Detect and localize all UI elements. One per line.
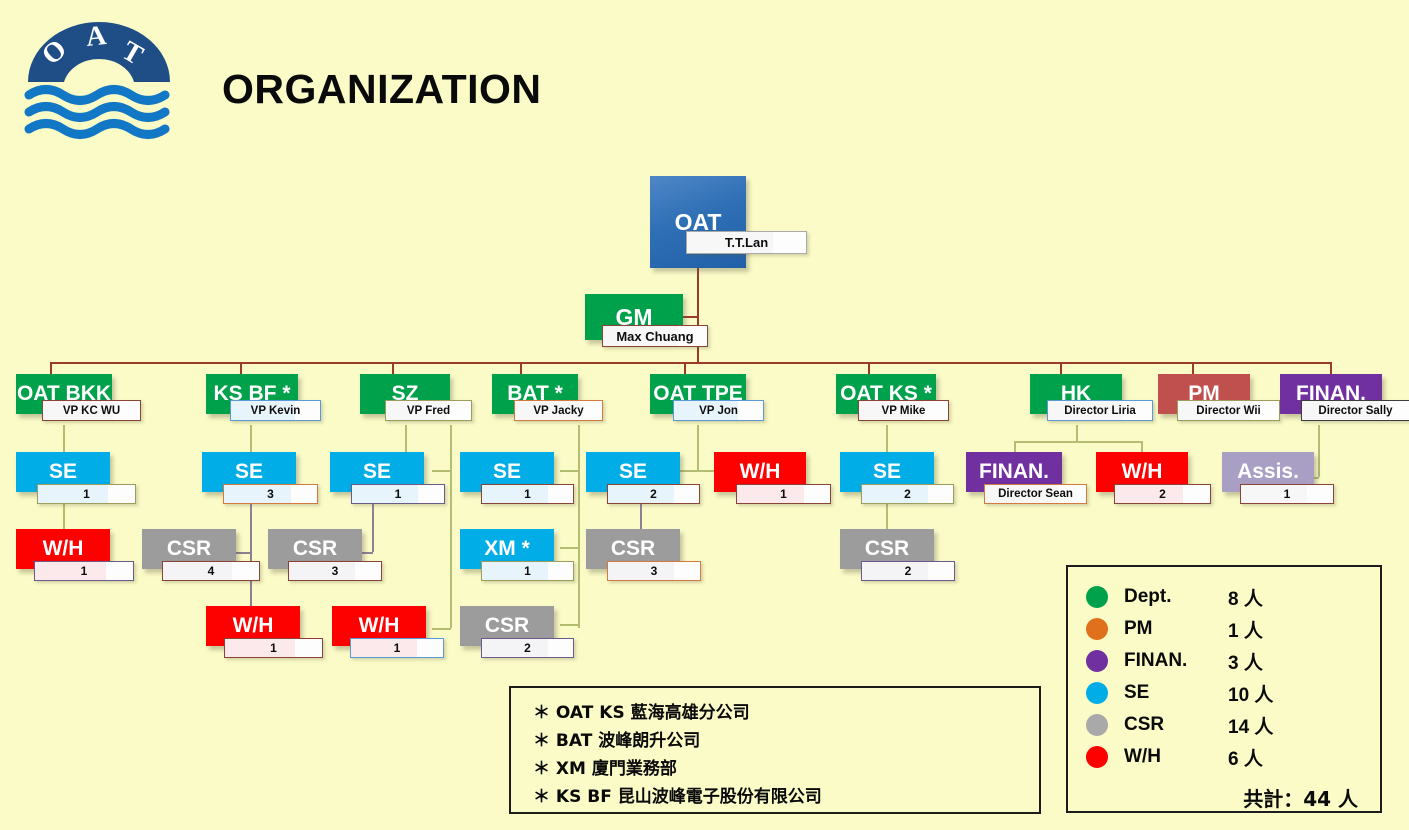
node-person: Director Wii bbox=[1177, 400, 1280, 421]
legend-row: PM 1 人 bbox=[1068, 613, 1380, 645]
legend-dot-pm bbox=[1086, 618, 1108, 640]
node-person: Director Sally bbox=[1301, 400, 1409, 421]
node-count: 1 bbox=[37, 484, 136, 504]
connector-bat-trunk bbox=[578, 425, 580, 628]
connector-ks-csr bbox=[886, 502, 888, 529]
footnote-item: ＊ OAT KS 藍海高雄分公司 bbox=[533, 699, 1039, 727]
connector-bat-csr bbox=[560, 624, 579, 626]
connector-ksbf-se bbox=[250, 425, 252, 452]
legend-value: 14 人 bbox=[1228, 712, 1273, 739]
legend-label: SE bbox=[1124, 682, 1228, 704]
connector-hk-wh bbox=[1141, 441, 1143, 452]
node-count: 4 bbox=[162, 561, 260, 581]
node-count: Director Sean bbox=[984, 484, 1087, 504]
legend-dot-csr bbox=[1086, 714, 1108, 736]
connector-hk-finan bbox=[1014, 441, 1016, 452]
legend-row: CSR 14 人 bbox=[1068, 709, 1380, 741]
connector-sz-trunk bbox=[450, 425, 452, 628]
svg-text:A: A bbox=[84, 20, 108, 53]
legend-dot-finan bbox=[1086, 650, 1108, 672]
legend-dot-wh bbox=[1086, 746, 1108, 768]
node-count: 1 bbox=[34, 561, 134, 581]
connector-tpe-csr bbox=[640, 502, 642, 529]
legend-row: W/H 6 人 bbox=[1068, 741, 1380, 773]
connector-drop-8 bbox=[1192, 362, 1194, 374]
footnote-item: ＊ BAT 波峰朗升公司 bbox=[533, 727, 1039, 755]
connector-sz-se bbox=[405, 425, 407, 452]
node-root[interactable]: OAT T.T.Lan bbox=[650, 176, 746, 268]
connector-main-bus bbox=[50, 362, 1332, 364]
connector-drop-7 bbox=[1060, 362, 1062, 374]
legend-dot-dept bbox=[1086, 586, 1108, 608]
node-count: 3 bbox=[223, 484, 318, 504]
node-person: VP Fred bbox=[385, 400, 472, 421]
oat-logo: O A T bbox=[24, 20, 174, 140]
node-count: 3 bbox=[288, 561, 382, 581]
node-count: 1 bbox=[224, 638, 323, 658]
node-root-label: OAT bbox=[650, 176, 746, 268]
legend-label: Dept. bbox=[1124, 586, 1228, 608]
connector-finan-v bbox=[1318, 425, 1320, 477]
legend-row: SE 10 人 bbox=[1068, 677, 1380, 709]
connector-drop-6 bbox=[868, 362, 870, 374]
node-root-person: T.T.Lan bbox=[686, 231, 807, 254]
legend-row: Dept. 8 人 bbox=[1068, 581, 1380, 613]
node-count: 2 bbox=[861, 561, 955, 581]
connector-hk-trunk bbox=[1076, 425, 1078, 441]
connector-drop-1 bbox=[50, 362, 52, 374]
legend-label: W/H bbox=[1124, 746, 1228, 768]
connector-drop-5 bbox=[684, 362, 686, 374]
connector-drop-4 bbox=[520, 362, 522, 374]
node-count: 2 bbox=[1114, 484, 1211, 504]
node-count: 1 bbox=[481, 484, 574, 504]
node-person: VP KC WU bbox=[42, 400, 141, 421]
node-count: 1 bbox=[350, 638, 444, 658]
legend-panel: Dept. 8 人 PM 1 人 FINAN. 3 人 SE 10 人 CSR … bbox=[1066, 565, 1382, 813]
legend-row: FINAN. 3 人 bbox=[1068, 645, 1380, 677]
legend-label: FINAN. bbox=[1124, 650, 1228, 672]
connector-bkk-se bbox=[63, 425, 65, 452]
node-person: VP Jon bbox=[673, 400, 764, 421]
legend-dot-se bbox=[1086, 682, 1108, 704]
footnote-item: ＊ XM 廈門業務部 bbox=[533, 755, 1039, 783]
connector-drop-3 bbox=[392, 362, 394, 374]
legend-value: 8 人 bbox=[1228, 584, 1263, 611]
legend-value: 1 人 bbox=[1228, 616, 1263, 643]
connector-sz-se-h bbox=[432, 470, 451, 472]
legend-label: CSR bbox=[1124, 714, 1228, 736]
node-count: 3 bbox=[607, 561, 701, 581]
node-count: 2 bbox=[481, 638, 574, 658]
legend-value: 3 人 bbox=[1228, 648, 1263, 675]
connector-bat-se bbox=[560, 470, 579, 472]
node-count: 1 bbox=[736, 484, 831, 504]
node-gm[interactable]: GM Max Chuang bbox=[585, 294, 683, 340]
node-gm-person: Max Chuang bbox=[602, 325, 708, 347]
legend-total: 共計：44 人 bbox=[1068, 783, 1380, 812]
connector-drop-2 bbox=[240, 362, 242, 374]
page-title: ORGANIZATION bbox=[222, 66, 542, 113]
org-chart-page: O A T ORGANIZATION bbox=[0, 0, 1409, 830]
connector-hk-bus bbox=[1014, 441, 1142, 443]
connector-bkk-wh bbox=[63, 502, 65, 529]
connector-ksbf-trunk bbox=[250, 502, 252, 606]
node-person: Director Liria bbox=[1047, 400, 1153, 421]
node-count: 1 bbox=[1240, 484, 1334, 504]
connector-sz-wh bbox=[432, 628, 451, 630]
connector-tpe-trunk bbox=[697, 425, 699, 470]
connector-bat-xm bbox=[560, 547, 579, 549]
node-count: 1 bbox=[481, 561, 574, 581]
footnote-item: ＊ KS BF 昆山波峰電子股份有限公司 bbox=[533, 783, 1039, 811]
legend-label: PM bbox=[1124, 618, 1228, 640]
legend-value: 6 人 bbox=[1228, 744, 1263, 771]
node-count: 2 bbox=[607, 484, 700, 504]
connector-drop-9 bbox=[1330, 362, 1332, 374]
connector-ks-se bbox=[886, 425, 888, 452]
legend-value: 10 人 bbox=[1228, 680, 1273, 707]
node-count: 2 bbox=[861, 484, 954, 504]
node-person: VP Kevin bbox=[230, 400, 321, 421]
node-person: VP Mike bbox=[858, 400, 949, 421]
footnotes-panel: ＊ OAT KS 藍海高雄分公司 ＊ BAT 波峰朗升公司 ＊ XM 廈門業務部… bbox=[509, 686, 1041, 814]
node-count: 1 bbox=[351, 484, 445, 504]
node-person: VP Jacky bbox=[514, 400, 603, 421]
